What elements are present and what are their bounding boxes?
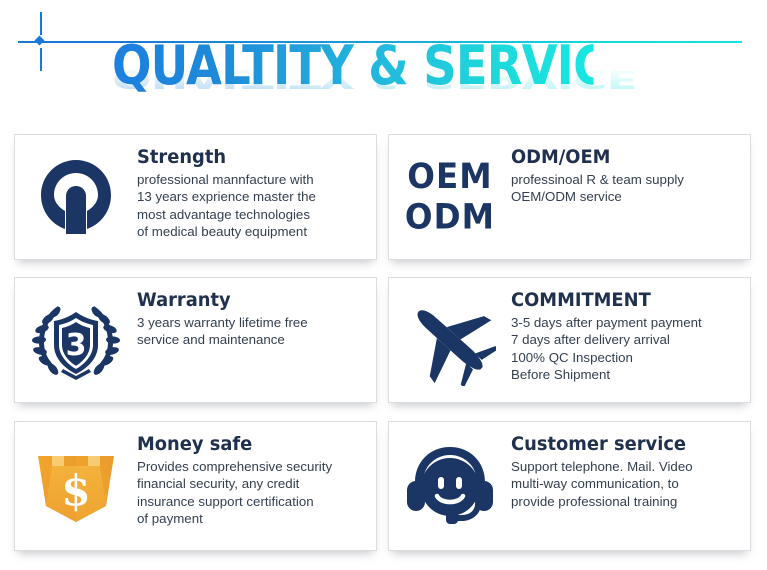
airplane-icon: [389, 278, 511, 402]
card-body-line: of medical beauty equipment: [137, 223, 316, 240]
card-body: 3 years warranty lifetime free service a…: [137, 314, 308, 349]
card-body-line: most advantage technologies: [137, 206, 316, 223]
card-body-line: provide professional training: [511, 493, 697, 510]
page-title: QUALTITY & SERVICE QUALTITY & SERVICE: [112, 38, 672, 130]
card-body-line: of payment: [137, 510, 332, 527]
eye-left: [438, 477, 444, 489]
card-title: ODM/OEM: [511, 145, 674, 169]
laurel-shield-icon: 3: [15, 278, 137, 402]
card-title: Warranty: [137, 288, 297, 312]
dollar-symbol: $: [61, 466, 90, 515]
oem-odm-icon-line-top: OEM: [405, 157, 495, 197]
card-title: Customer service: [511, 432, 686, 456]
page-title-reflection: QUALTITY & SERVICE: [112, 65, 637, 92]
card-body-line: professinoal R & team supply: [511, 171, 684, 188]
feature-card-strength[interactable]: Strength professional mannfacture with 1…: [14, 134, 377, 260]
card-body-line: 13 years exprience master the: [137, 188, 316, 205]
card-text: Warranty 3 years warranty lifetime free …: [137, 278, 314, 349]
card-text: COMMITMENT 3-5 days after payment paymen…: [511, 278, 708, 384]
card-body-line: financial security, any credit: [137, 475, 332, 492]
warranty-badge-number: 3: [66, 328, 87, 363]
feature-card-money-safe[interactable]: $ Money safe Provides comprehensive secu…: [14, 421, 377, 551]
oem-odm-icon-line-bottom: ODM: [405, 197, 495, 237]
card-text: Customer service Support telephone. Mail…: [511, 422, 703, 510]
card-body: 3-5 days after payment payment 7 days af…: [511, 314, 702, 384]
money-vault-dollar-icon: $: [15, 422, 137, 550]
banner: QUALTITY & SERVICE QUALTITY & SERVICE: [0, 38, 767, 130]
card-title: Money safe: [137, 432, 320, 456]
card-body-line: professional mannfacture with: [137, 171, 316, 188]
card-body: professinoal R & team supply OEM/ODM ser…: [511, 171, 684, 206]
card-body-line: multi-way communication, to: [511, 475, 697, 492]
card-text: Money safe Provides comprehensive securi…: [137, 422, 338, 528]
feature-card-commitment[interactable]: COMMITMENT 3-5 days after payment paymen…: [388, 277, 751, 403]
arch-logo-icon: [15, 135, 137, 259]
card-body-line: 3-5 days after payment payment: [511, 314, 702, 331]
decoration-vertical-tick-top: [40, 12, 42, 35]
card-body-line: service and maintenance: [137, 331, 308, 348]
oem-odm-text-icon: OEM ODM: [389, 135, 511, 259]
card-body: professional mannfacture with 13 years e…: [137, 171, 316, 241]
card-text: ODM/OEM professinoal R & team supply OEM…: [511, 135, 690, 206]
card-title: Strength: [137, 145, 305, 169]
card-body-line: insurance support certification: [137, 493, 332, 510]
card-body-line: 100% QC Inspection: [511, 349, 702, 366]
card-body-line: Provides comprehensive security: [137, 458, 332, 475]
card-body-line: 3 years warranty lifetime free: [137, 314, 308, 331]
eye-right: [456, 477, 462, 489]
card-body-line: Support telephone. Mail. Video: [511, 458, 697, 475]
card-text: Strength professional mannfacture with 1…: [137, 135, 322, 241]
feature-card-grid: Strength professional mannfacture with 1…: [14, 134, 753, 554]
card-body-line: OEM/ODM service: [511, 188, 684, 205]
feature-card-customer-service[interactable]: Customer service Support telephone. Mail…: [388, 421, 751, 551]
card-title: COMMITMENT: [511, 288, 690, 312]
feature-card-odm-oem[interactable]: OEM ODM ODM/OEM professinoal R & team su…: [388, 134, 751, 260]
card-body-line: 7 days after delivery arrival: [511, 331, 702, 348]
card-body: Support telephone. Mail. Video multi-way…: [511, 458, 697, 510]
card-body-line: Before Shipment: [511, 366, 702, 383]
card-body: Provides comprehensive security financia…: [137, 458, 332, 528]
feature-card-warranty[interactable]: 3 Warranty 3 years warranty lifetime fre…: [14, 277, 377, 403]
headset-smiley-icon: [389, 422, 511, 550]
